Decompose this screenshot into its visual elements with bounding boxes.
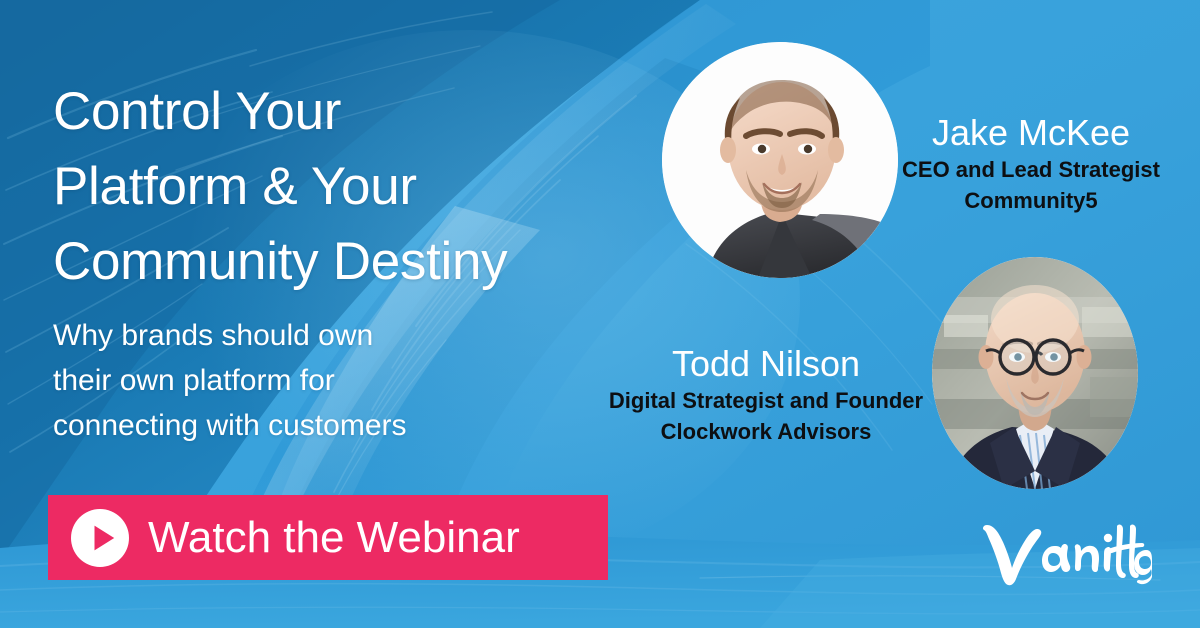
speaker-company: Clockwork Advisors xyxy=(596,416,936,447)
vanilla-wordmark-icon xyxy=(980,508,1152,590)
speaker-company: Community5 xyxy=(876,185,1186,216)
vanilla-logo[interactable] xyxy=(980,508,1152,590)
avatar-todd-nilson xyxy=(932,257,1138,489)
subtitle: Why brands should own their own platform… xyxy=(53,313,523,448)
speaker-role: CEO and Lead Strategist xyxy=(876,154,1186,185)
avatar-jake-mckee xyxy=(662,42,898,278)
webinar-promo-banner: Control Your Platform & Your Community D… xyxy=(0,0,1200,628)
speaker-name: Todd Nilson xyxy=(596,343,936,385)
speaker-info-todd-nilson: Todd Nilson Digital Strategist and Found… xyxy=(596,343,936,447)
portrait-todd-nilson xyxy=(932,257,1138,489)
speaker-name: Jake McKee xyxy=(876,112,1186,154)
page-title: Control Your Platform & Your Community D… xyxy=(53,74,693,299)
speaker-info-jake-mckee: Jake McKee CEO and Lead Strategist Commu… xyxy=(876,112,1186,216)
watch-the-webinar-label: Watch the Webinar xyxy=(148,516,520,560)
portrait-jake-mckee xyxy=(662,42,898,278)
play-circle-icon xyxy=(71,509,129,567)
watch-the-webinar-button[interactable]: Watch the Webinar xyxy=(48,495,608,580)
speaker-role: Digital Strategist and Founder xyxy=(596,385,936,416)
